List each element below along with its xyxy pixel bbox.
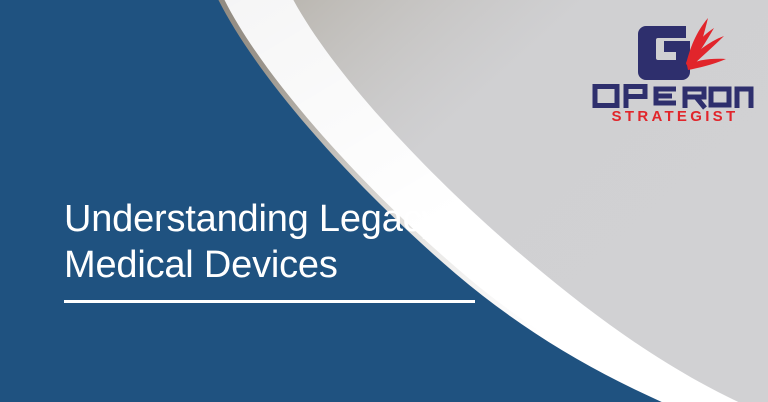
title-underline-rule <box>64 300 475 303</box>
operon-tagline: STRATEGIST <box>596 108 754 125</box>
operon-strategist-logo: STRATEGIST <box>592 18 754 134</box>
operon-g-flame-mark-icon <box>634 18 730 80</box>
page-title: Understanding Legacy Medical Devices <box>64 196 494 288</box>
operon-wordmark <box>592 80 754 110</box>
banner-graphic: Understanding Legacy Medical Devices <box>0 0 768 402</box>
headline-block: Understanding Legacy Medical Devices <box>64 196 494 288</box>
